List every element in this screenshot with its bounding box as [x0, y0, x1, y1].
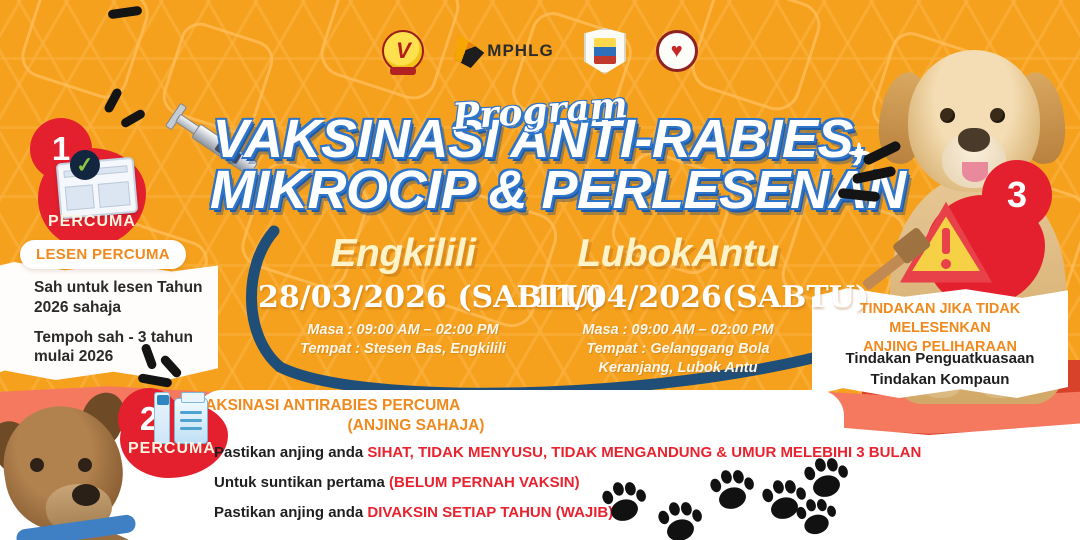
vaccination-program-poster: V MPHLG ♥ Program VAKSINASI ANTI-RABIES,…: [0, 0, 1080, 540]
section1-percuma-tag: PERCUMA: [48, 213, 136, 231]
event-city: LubokAntu: [533, 232, 823, 276]
poster-title: Program VAKSINASI ANTI-RABIES, MIKROCIP …: [210, 96, 870, 216]
title-line-2: MIKROCIP & PERLESENAN: [210, 165, 870, 216]
section1-line-2: Tempoh sah - 3 tahun mulai 2026: [34, 328, 234, 368]
event-engkilili: Engkilili 28/03/2026 (SABTU) Masa : 09:0…: [258, 232, 548, 359]
mphlg-logo: MPHLG: [454, 34, 553, 68]
section2-percuma-tag: PERCUMA: [128, 440, 216, 458]
event-city: Engkilili: [258, 232, 548, 276]
event-venue: Tempat : Gelanggang Bola: [533, 340, 823, 359]
section3-number-badge: 3: [982, 160, 1052, 230]
event-time: Masa : 09:00 AM – 02:00 PM: [258, 321, 548, 340]
section3-body-line1: Tindakan Penguatkuasaan: [810, 348, 1070, 369]
animal-welfare-heart-logo: ♥: [656, 30, 698, 72]
section2-heading-line2: (ANJING SAHAJA): [196, 416, 636, 436]
event-time: Masa : 09:00 AM – 02:00 PM: [533, 321, 823, 340]
section2-bullet: Untuk suntikan pertama (BELUM PERNAH VAK…: [214, 474, 921, 491]
section1-line-1: Sah untuk lesen Tahun 2026 sahaja: [34, 278, 234, 318]
heart-icon: ♥: [671, 41, 683, 61]
bullet-plain-text: Pastikan anjing anda: [214, 444, 367, 461]
event-venue-line2: Keranjang, Lubok Antu: [533, 359, 823, 378]
bullet-plain-text: Pastikan anjing anda: [214, 504, 367, 521]
section1-pill-lesen-percuma: LESEN PERCUMA: [20, 240, 186, 269]
section2-bullet-list: Pastikan anjing anda SIHAT, TIDAK MENYUS…: [214, 444, 921, 534]
section1-card-text: Sah untuk lesen Tahun 2026 sahaja Tempoh…: [34, 278, 234, 367]
bullet-plain-text: Untuk suntikan pertama: [214, 474, 389, 491]
organizer-logos: V MPHLG ♥: [0, 28, 1080, 74]
bullet-highlight-text: SIHAT, TIDAK MENYUSU, TIDAK MENGANDUNG &…: [367, 444, 921, 461]
mphlg-logo-label: MPHLG: [487, 41, 553, 61]
section2-bullet: Pastikan anjing anda SIHAT, TIDAK MENYUS…: [214, 444, 921, 461]
license-card-icon: ✓: [56, 157, 139, 220]
veterinary-services-logo-mark: V: [382, 30, 424, 72]
section3-heading-line1: TINDAKAN JIKA TIDAK MELESENKAN: [810, 300, 1070, 338]
bullet-highlight-text: DIVAKSIN SETIAP TAHUN (WAJIB): [367, 504, 613, 521]
veterinary-services-logo: V: [382, 30, 424, 72]
section2-heading: VAKSINASI ANTIRABIES PERCUMA (ANJING SAH…: [196, 396, 636, 436]
sarawak-crest-shield: [594, 38, 616, 64]
event-venue: Tempat : Stesen Bas, Engkilili: [258, 340, 548, 359]
section2-bullet: Pastikan anjing anda DIVAKSIN SETIAP TAH…: [214, 504, 921, 521]
section3-body: Tindakan Penguatkuasaan Tindakan Kompaun: [810, 348, 1070, 390]
event-date: 11/04/2026(SABTU): [533, 280, 823, 315]
section3-body-line2: Tindakan Kompaun: [810, 369, 1070, 390]
bullet-highlight-text: (BELUM PERNAH VAKSIN): [389, 474, 580, 491]
section2-heading-line1: VAKSINASI ANTIRABIES PERCUMA: [196, 397, 460, 414]
sarawak-crest-logo: [584, 28, 626, 74]
event-lubok-antu: LubokAntu 11/04/2026(SABTU) Masa : 09:00…: [533, 232, 823, 378]
event-date: 28/03/2026 (SABTU): [258, 280, 548, 315]
mphlg-logo-mark: [454, 34, 484, 68]
